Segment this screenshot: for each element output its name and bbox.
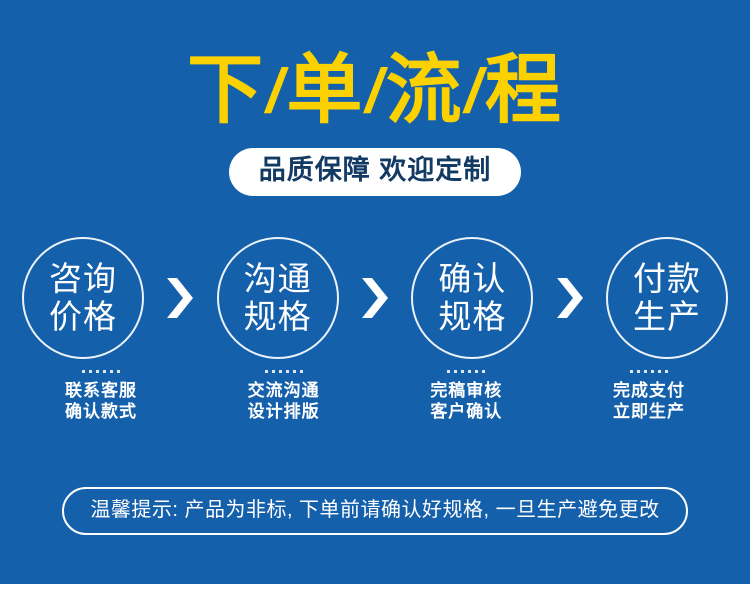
step-circle-2[interactable]: 沟通 规格 <box>217 237 339 359</box>
step-3-caption-line-2: 客户确认 <box>387 401 545 422</box>
step-caption-3: 完稿审核 客户确认 <box>387 370 545 442</box>
dots-icon <box>387 370 545 374</box>
step-captions-row: 联系客服 确认款式 交流沟通 设计排版 完稿审核 客户确认 完成支付 立即生产 <box>22 370 728 442</box>
dots-icon <box>570 370 728 374</box>
title-char-3: 流 <box>386 48 464 133</box>
step-2-line-1: 沟通 <box>244 260 312 298</box>
caption-spacer <box>546 370 570 442</box>
step-2-line-2: 规格 <box>244 298 312 336</box>
dots-icon <box>205 370 363 374</box>
step-4-caption-line-2: 立即生产 <box>570 401 728 422</box>
title-separator-2: / <box>364 57 385 126</box>
chevron-right-icon <box>357 275 393 321</box>
subtitle-container: 品质保障 欢迎定制 <box>0 148 750 196</box>
step-caption-1: 联系客服 确认款式 <box>22 370 180 442</box>
page-title: 下/单/流/程 <box>0 48 750 139</box>
title-separator-3: / <box>464 57 485 126</box>
step-2-caption-line-2: 设计排版 <box>205 401 363 422</box>
caption-spacer <box>363 370 387 442</box>
title-separator-1: / <box>265 57 286 126</box>
caption-spacer <box>180 370 204 442</box>
step-1-line-2: 价格 <box>49 298 117 336</box>
step-caption-4: 完成支付 立即生产 <box>570 370 728 442</box>
title-char-1: 下 <box>187 48 265 133</box>
tip-container: 温馨提示: 产品为非标, 下单前请确认好规格, 一旦生产避免更改 <box>0 487 750 535</box>
step-1-caption-line-1: 联系客服 <box>22 380 180 401</box>
step-4-caption-line-1: 完成支付 <box>570 380 728 401</box>
title-char-2: 单 <box>286 48 364 133</box>
step-3-line-1: 确认 <box>438 260 506 298</box>
step-4-line-2: 生产 <box>633 298 701 336</box>
step-2-caption-line-1: 交流沟通 <box>205 380 363 401</box>
step-circle-4[interactable]: 付款 生产 <box>606 237 728 359</box>
step-3-line-2: 规格 <box>438 298 506 336</box>
title-char-4: 程 <box>485 48 563 133</box>
step-1-caption-line-2: 确认款式 <box>22 401 180 422</box>
step-circles-row: 咨询 价格 沟通 规格 确认 规格 付款 生产 <box>22 232 728 364</box>
step-circle-3[interactable]: 确认 规格 <box>411 237 533 359</box>
subtitle-badge: 品质保障 欢迎定制 <box>229 148 522 196</box>
warm-tip-banner: 温馨提示: 产品为非标, 下单前请确认好规格, 一旦生产避免更改 <box>62 487 687 535</box>
chevron-right-icon <box>162 275 198 321</box>
step-1-line-1: 咨询 <box>49 260 117 298</box>
step-4-line-1: 付款 <box>633 260 701 298</box>
step-caption-2: 交流沟通 设计排版 <box>205 370 363 442</box>
step-3-caption-line-1: 完稿审核 <box>387 380 545 401</box>
order-process-banner: 下/单/流/程 品质保障 欢迎定制 咨询 价格 沟通 规格 确认 规格 <box>0 0 750 599</box>
dots-icon <box>22 370 180 374</box>
step-circle-1[interactable]: 咨询 价格 <box>22 237 144 359</box>
chevron-right-icon <box>552 275 588 321</box>
